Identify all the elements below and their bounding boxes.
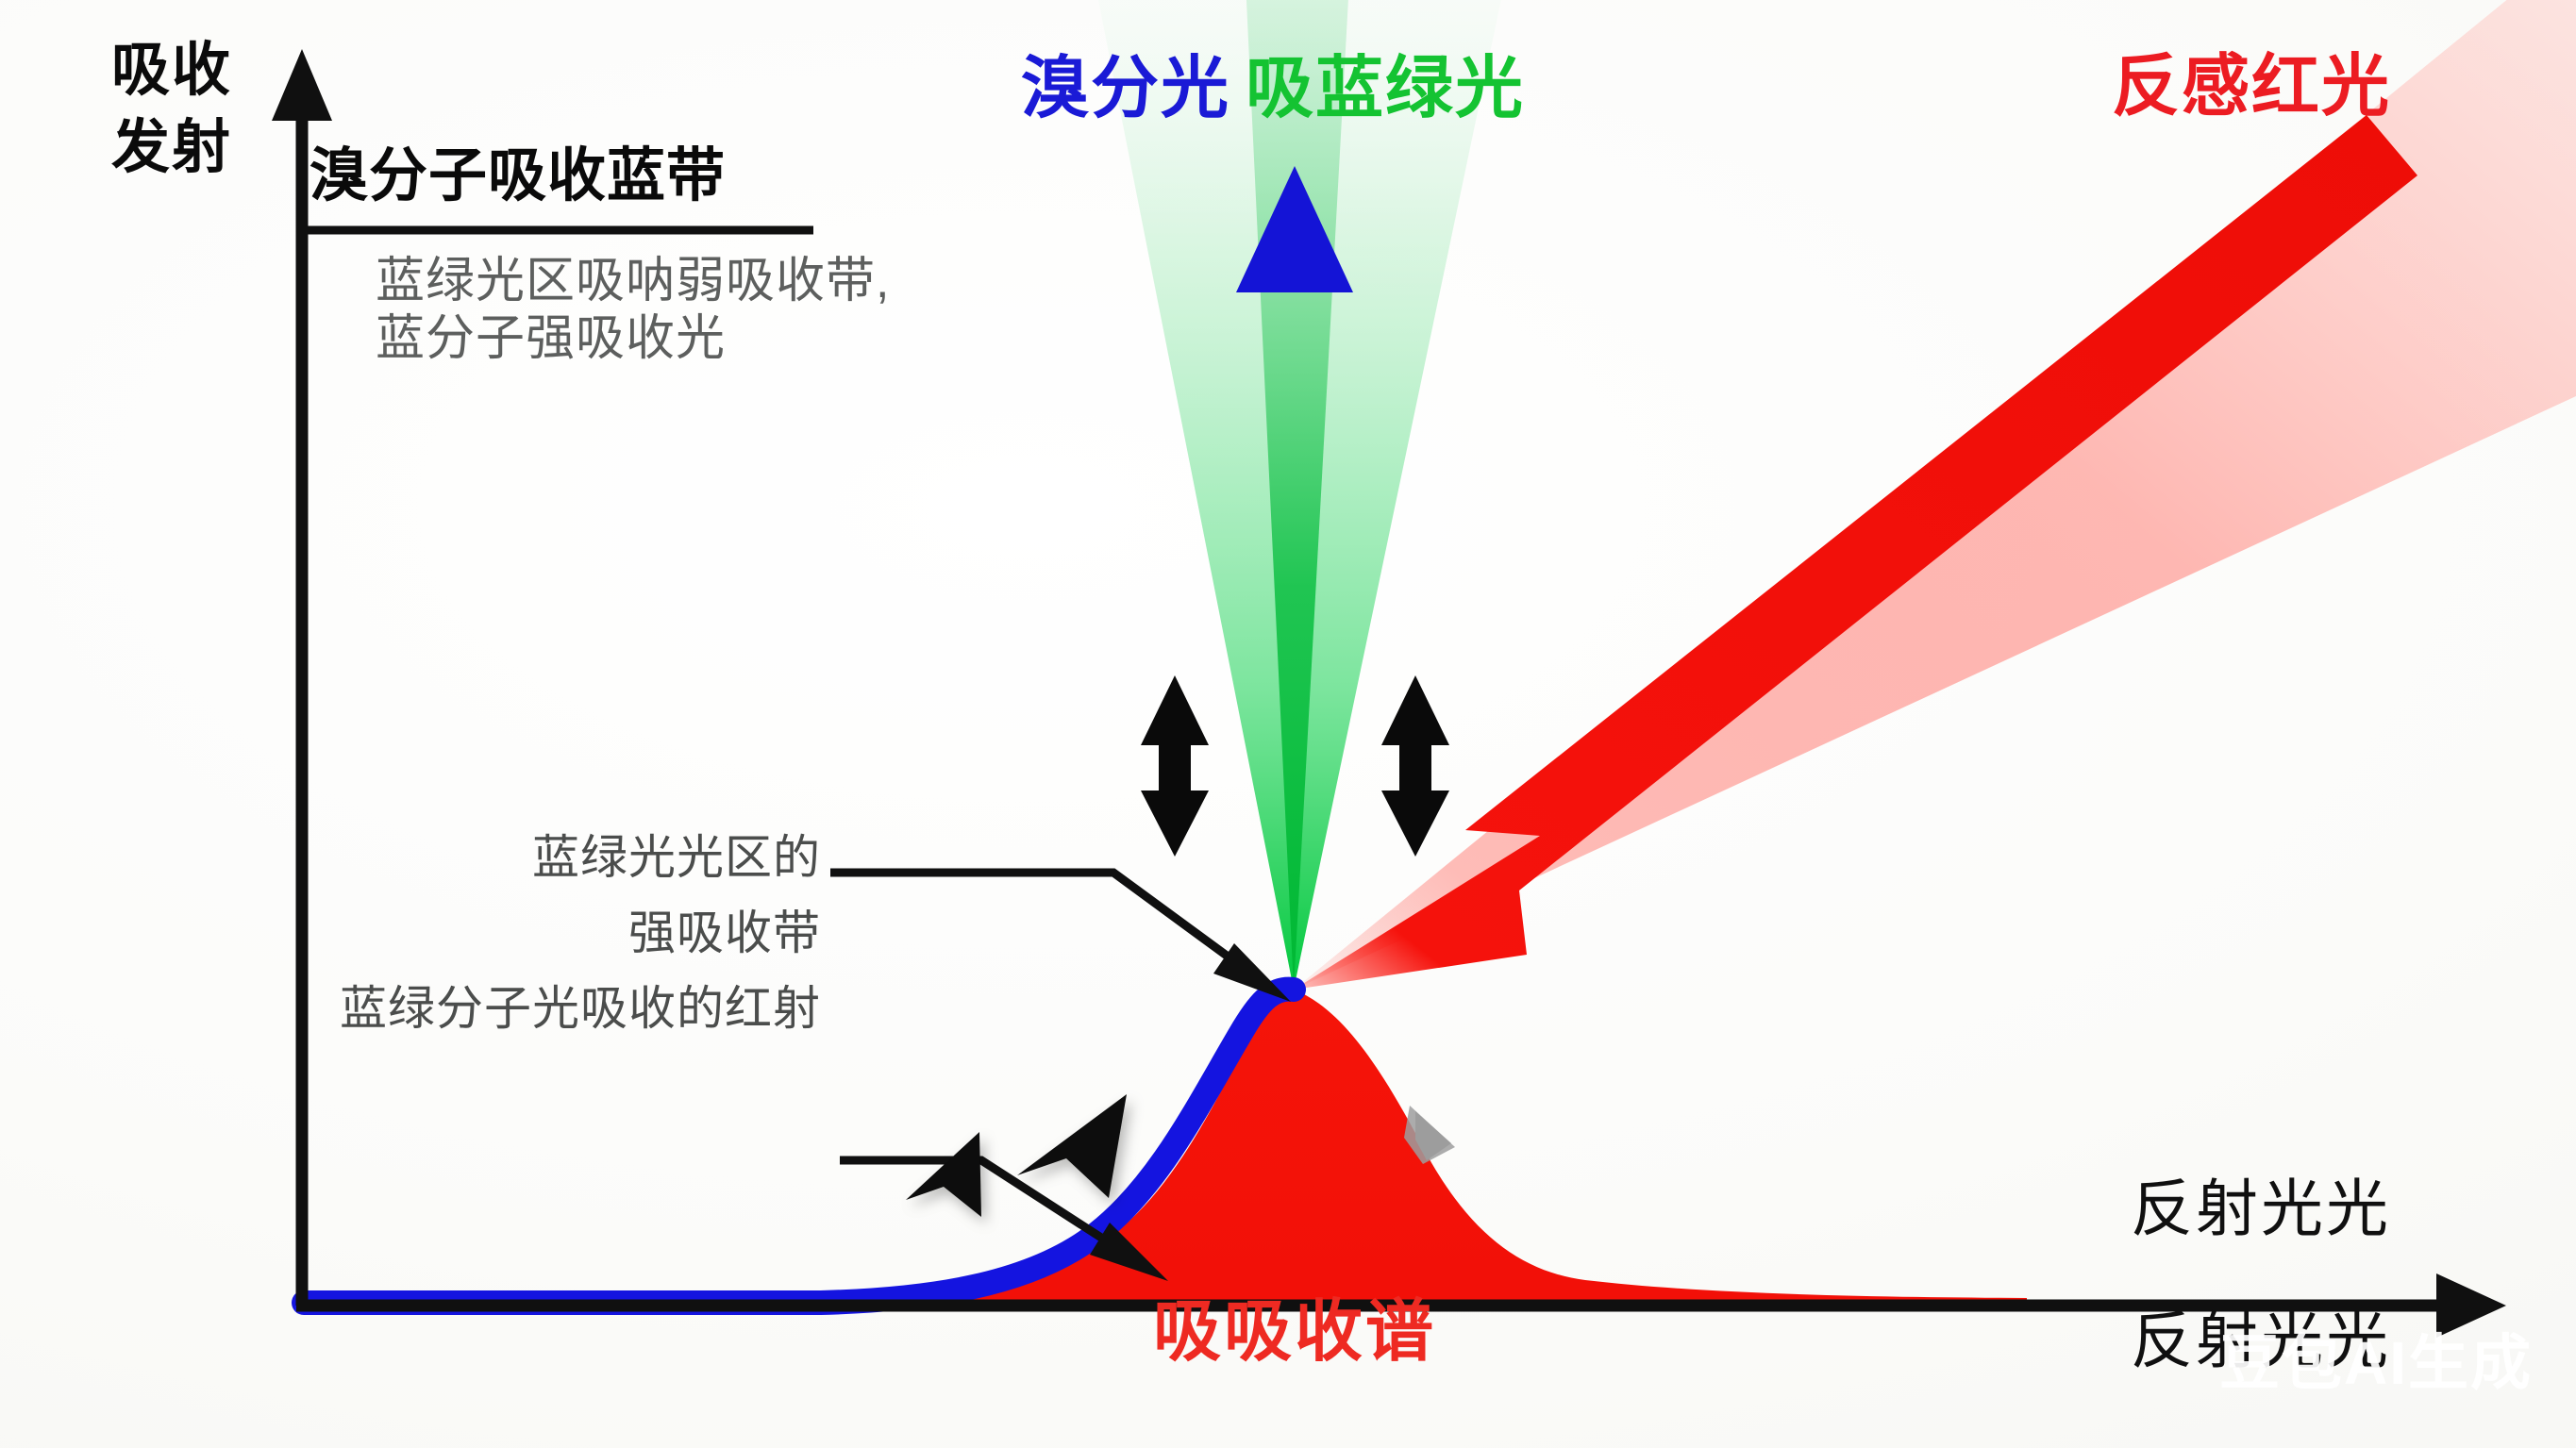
x-axis-label-top: 反射光光 [2131,1173,2391,1246]
callout-strong-band-line1: 蓝绿光光区的 [349,830,821,886]
red-incident-cone [1294,0,2576,990]
watermark-text: 豆包AI生成 [2219,1328,2533,1400]
header-subtitle: 蓝绿光区吸呐弱吸收带,蓝分子强吸收光 [376,253,890,369]
callout-strong-band-line2: 强吸收带 [349,906,821,961]
y-axis-label-absorption: 吸收 [111,36,232,105]
beam-label-red: 反感红光 [2112,47,2391,127]
vibration-arrow-right [1381,675,1449,857]
beam-label-blue: 溴分光 [1021,49,1230,129]
callout-leader-top [830,873,1291,1002]
header-subtitle-line1: 蓝绿光区吸呐弱吸收带, [376,254,890,308]
header-subtitle-line2: 蓝分子强吸收光 [376,310,890,368]
spectrum-label: 吸吸收谱 [1153,1292,1436,1373]
header-title: 溴分子吸收蓝带 [309,141,726,210]
diagram-canvas: 吸收 发射 溴分子吸收蓝带 蓝绿光区吸呐弱吸收带,蓝分子强吸收光 溴分光 吸蓝绿… [0,0,2576,1448]
y-axis-label-emission: 发射 [111,113,232,182]
pointer-arrow-low [906,1132,993,1219]
callout-red-emission: 蓝绿分子光吸收的红射 [245,981,821,1037]
pointer-arrow-mid [1017,1094,1127,1198]
vibration-arrow-left [1141,675,1209,857]
beam-label-green: 吸蓝绿光 [1246,49,1525,129]
